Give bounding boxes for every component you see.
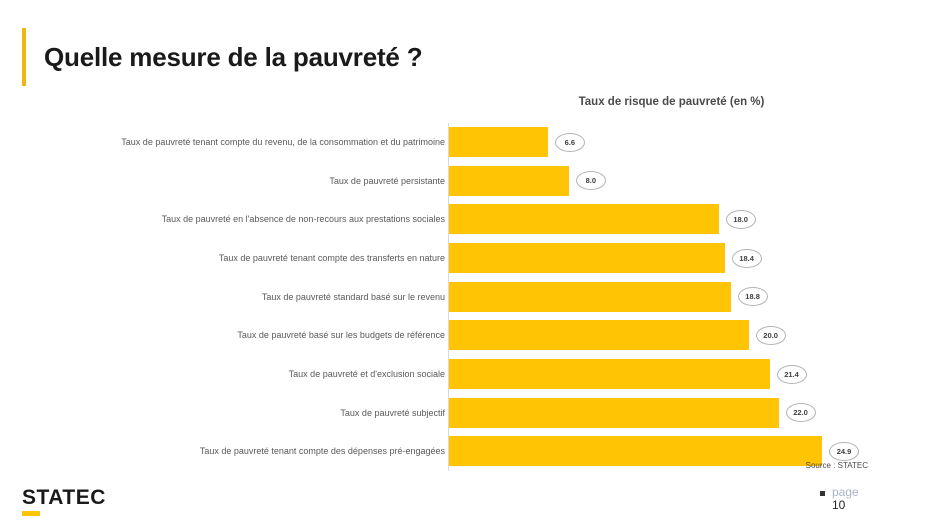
page-number-block: page 10 xyxy=(820,486,859,511)
bar-track: 18.8 xyxy=(449,282,768,312)
page-number: 10 xyxy=(832,499,859,512)
bar-track: 8.0 xyxy=(449,166,606,196)
square-bullet-icon xyxy=(820,491,825,496)
statec-logo: STATEC xyxy=(22,487,142,516)
bar-category-label: Taux de pauvreté en l'absence de non-rec… xyxy=(25,214,445,224)
bar-fill xyxy=(449,359,770,389)
chart-bar-row: Taux de pauvreté basé sur les budgets de… xyxy=(0,316,940,355)
bar-value-bubble: 22.0 xyxy=(786,403,816,422)
page-title-text: Quelle mesure de la pauvreté ? xyxy=(44,42,422,73)
chart-bar-row: Taux de pauvreté en l'absence de non-rec… xyxy=(0,200,940,239)
slide-canvas: Quelle mesure de la pauvreté ? Taux de r… xyxy=(0,0,940,529)
bar-fill xyxy=(449,243,725,273)
chart-title: Taux de risque de pauvreté (en %) xyxy=(449,96,894,108)
chart-bar-row: Taux de pauvreté tenant compte du revenu… xyxy=(0,123,940,162)
bar-track: 18.4 xyxy=(449,243,762,273)
bar-track: 24.9 xyxy=(449,436,859,466)
bar-category-label: Taux de pauvreté tenant compte des dépen… xyxy=(25,446,445,456)
statec-logo-underline xyxy=(22,511,40,516)
bar-fill xyxy=(449,320,749,350)
bar-category-label: Taux de pauvreté tenant compte du revenu… xyxy=(25,137,445,147)
page-label: page xyxy=(832,486,859,499)
bar-value-bubble: 6.6 xyxy=(555,133,585,152)
title-accent-bar xyxy=(22,28,26,86)
bar-category-label: Taux de pauvreté persistante xyxy=(25,176,445,186)
bar-fill xyxy=(449,398,779,428)
bar-track: 22.0 xyxy=(449,398,816,428)
bar-track: 21.4 xyxy=(449,359,807,389)
bar-category-label: Taux de pauvreté tenant compte des trans… xyxy=(25,253,445,263)
bar-value-bubble: 18.4 xyxy=(732,249,762,268)
source-note: Source : STATEC xyxy=(806,461,868,470)
bar-value-bubble: 21.4 xyxy=(777,365,807,384)
bar-track: 20.0 xyxy=(449,320,786,350)
bar-value-bubble: 24.9 xyxy=(829,442,859,461)
bar-value-bubble: 20.0 xyxy=(756,326,786,345)
bar-category-label: Taux de pauvreté standard basé sur le re… xyxy=(25,292,445,302)
bar-value-bubble: 18.0 xyxy=(726,210,756,229)
bar-track: 6.6 xyxy=(449,127,585,157)
bar-category-label: Taux de pauvreté subjectif xyxy=(25,408,445,418)
statec-logo-wordmark: STATEC xyxy=(22,487,142,508)
bar-fill xyxy=(449,166,569,196)
poverty-rate-bar-chart: Taux de risque de pauvreté (en %) Taux d… xyxy=(0,96,940,471)
bar-fill xyxy=(449,436,822,466)
chart-bar-row: Taux de pauvreté persistante8.0 xyxy=(0,162,940,201)
bar-fill xyxy=(449,204,719,234)
chart-bar-row: Taux de pauvreté tenant compte des dépen… xyxy=(0,432,940,471)
bar-value-bubble: 18.8 xyxy=(738,287,768,306)
page-title: Quelle mesure de la pauvreté ? xyxy=(22,28,422,86)
chart-plot-area: Taux de pauvreté tenant compte du revenu… xyxy=(0,123,940,471)
chart-bar-row: Taux de pauvreté subjectif22.0 xyxy=(0,394,940,433)
bar-value-bubble: 8.0 xyxy=(576,171,606,190)
chart-bar-row: Taux de pauvreté standard basé sur le re… xyxy=(0,278,940,317)
chart-bar-row: Taux de pauvreté tenant compte des trans… xyxy=(0,239,940,278)
bar-track: 18.0 xyxy=(449,204,756,234)
bar-fill xyxy=(449,127,548,157)
bar-category-label: Taux de pauvreté et d'exclusion sociale xyxy=(25,369,445,379)
chart-bar-row: Taux de pauvreté et d'exclusion sociale2… xyxy=(0,355,940,394)
bar-fill xyxy=(449,282,731,312)
bar-category-label: Taux de pauvreté basé sur les budgets de… xyxy=(25,330,445,340)
